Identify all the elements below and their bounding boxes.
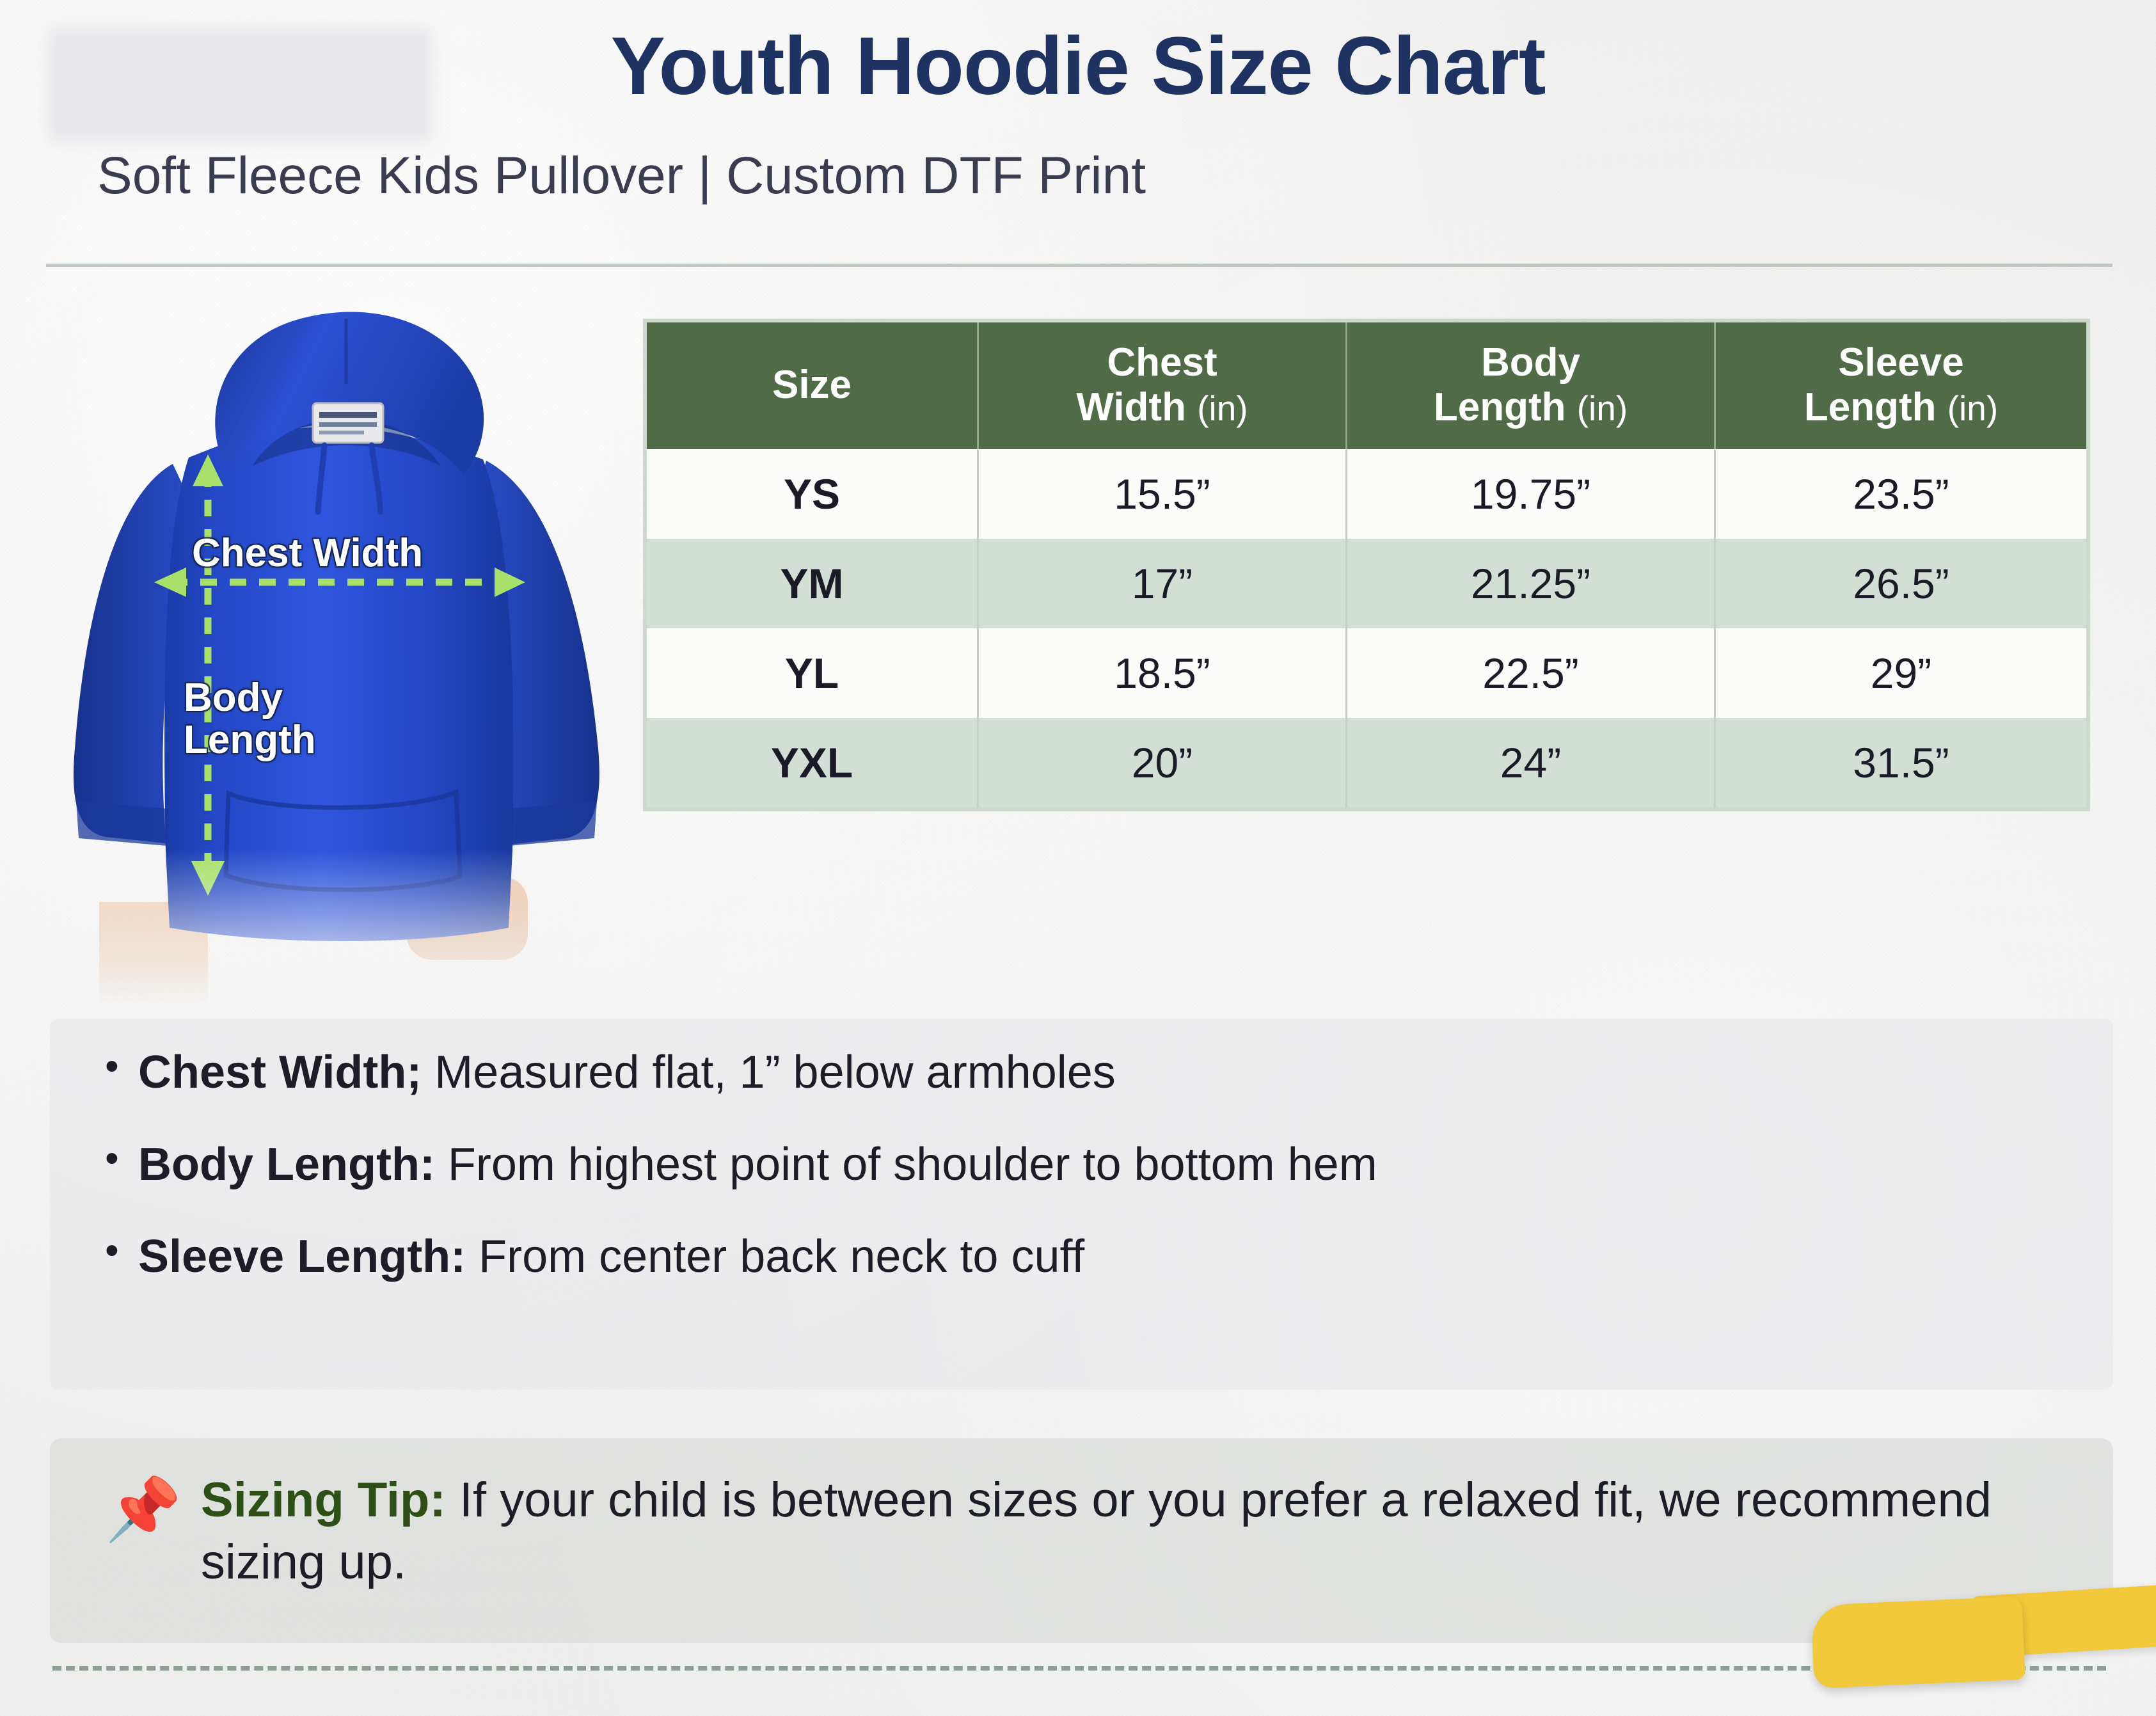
cell-sleeve-length: 29” (1715, 628, 2087, 718)
cell-size: YS (647, 449, 978, 539)
redaction-box (56, 35, 424, 134)
body-length-annotation: Body Length (184, 677, 316, 761)
col-header-sleeve-line1: Sleeve (1838, 340, 1964, 385)
body-length-line1: Body (184, 677, 316, 719)
header: Youth Hoodie Size Chart Soft Fleece Kids… (0, 0, 2156, 256)
cell-sleeve-length: 26.5” (1715, 539, 2087, 628)
col-header-body-unit: (in) (1577, 388, 1628, 428)
list-item: Chest Width; Measured flat, 1” below arm… (138, 1049, 2113, 1095)
body-length-line2: Length (184, 719, 316, 761)
cell-body-length: 19.75” (1347, 449, 1715, 539)
header-divider (46, 264, 2112, 267)
table-header-row: Size Chest Width (in) Body Length (in) S… (647, 322, 2086, 449)
col-header-sleeve-length: Sleeve Length (in) (1715, 322, 2087, 449)
table-row: YM 17” 21.25” 26.5” (647, 539, 2086, 628)
tape-segment-front (1811, 1596, 2025, 1688)
col-header-chest-line2: Width (1076, 385, 1186, 429)
bullet-description: Measured flat, 1” below armholes (422, 1047, 1116, 1098)
col-header-sleeve-line2: Length (1804, 385, 1937, 429)
cell-body-length: 22.5” (1347, 628, 1715, 718)
list-item: Sleeve Length: From center back neck to … (138, 1234, 2113, 1280)
size-table: Size Chest Width (in) Body Length (in) S… (647, 322, 2086, 807)
bullet-description: From center back neck to cuff (466, 1231, 1084, 1282)
cell-size: YXL (647, 718, 978, 807)
chest-width-annotation: Chest Width (192, 532, 423, 575)
cell-body-length: 21.25” (1347, 539, 1715, 628)
hoodie-svg (61, 301, 617, 1005)
col-header-body-line1: Body (1481, 340, 1580, 385)
col-header-chest-width: Chest Width (in) (978, 322, 1347, 449)
col-header-sleeve-unit: (in) (1947, 388, 1998, 428)
page-subtitle: Soft Fleece Kids Pullover | Custom DTF P… (97, 146, 1146, 206)
cell-body-length: 24” (1347, 718, 1715, 807)
sizing-tip-body: If your child is between sizes or you pr… (201, 1473, 1992, 1589)
table-row: YXL 20” 24” 31.5” (647, 718, 2086, 807)
bullet-term: Chest Width; (138, 1047, 422, 1098)
table-row: YS 15.5” 19.75” 23.5” (647, 449, 2086, 539)
col-header-chest-line1: Chest (1107, 340, 1217, 385)
table-body: YS 15.5” 19.75” 23.5” YM 17” 21.25” 26.5… (647, 449, 2086, 807)
cell-chest-width: 20” (978, 718, 1347, 807)
bullet-term: Sleeve Length: (138, 1231, 466, 1282)
col-header-size-label: Size (772, 363, 852, 407)
table-header: Size Chest Width (in) Body Length (in) S… (647, 322, 2086, 449)
cell-chest-width: 18.5” (978, 628, 1347, 718)
col-header-body-length: Body Length (in) (1347, 322, 1715, 449)
cell-size: YL (647, 628, 978, 718)
bullet-term: Body Length: (138, 1139, 435, 1190)
measurement-guide-list: Chest Width; Measured flat, 1” below arm… (50, 1019, 2113, 1280)
col-header-size: Size (647, 322, 978, 449)
size-table-container: Size Chest Width (in) Body Length (in) S… (643, 319, 2090, 811)
bullet-description: From highest point of shoulder to bottom… (435, 1139, 1377, 1190)
measurement-guide-panel: Chest Width; Measured flat, 1” below arm… (50, 1019, 2113, 1390)
table-row: YL 18.5” 22.5” 29” (647, 628, 2086, 718)
list-item: Body Length: From highest point of shoul… (138, 1141, 2113, 1188)
cell-chest-width: 15.5” (978, 449, 1347, 539)
cell-sleeve-length: 31.5” (1715, 718, 2087, 807)
sizing-tip-text: Sizing Tip: If your child is between siz… (201, 1469, 2024, 1594)
cell-chest-width: 17” (978, 539, 1347, 628)
hoodie-illustration: Chest Width Body Length (61, 301, 617, 1005)
col-header-body-line2: Length (1434, 385, 1566, 429)
col-header-chest-unit: (in) (1197, 388, 1248, 428)
measuring-tape-photo (1763, 1585, 2156, 1694)
cell-sleeve-length: 23.5” (1715, 449, 2087, 539)
size-chart-page: Youth Hoodie Size Chart Soft Fleece Kids… (0, 0, 2156, 1716)
pushpin-icon: 📌 (105, 1479, 182, 1541)
cell-size: YM (647, 539, 978, 628)
sizing-tip-label: Sizing Tip: (201, 1473, 446, 1527)
